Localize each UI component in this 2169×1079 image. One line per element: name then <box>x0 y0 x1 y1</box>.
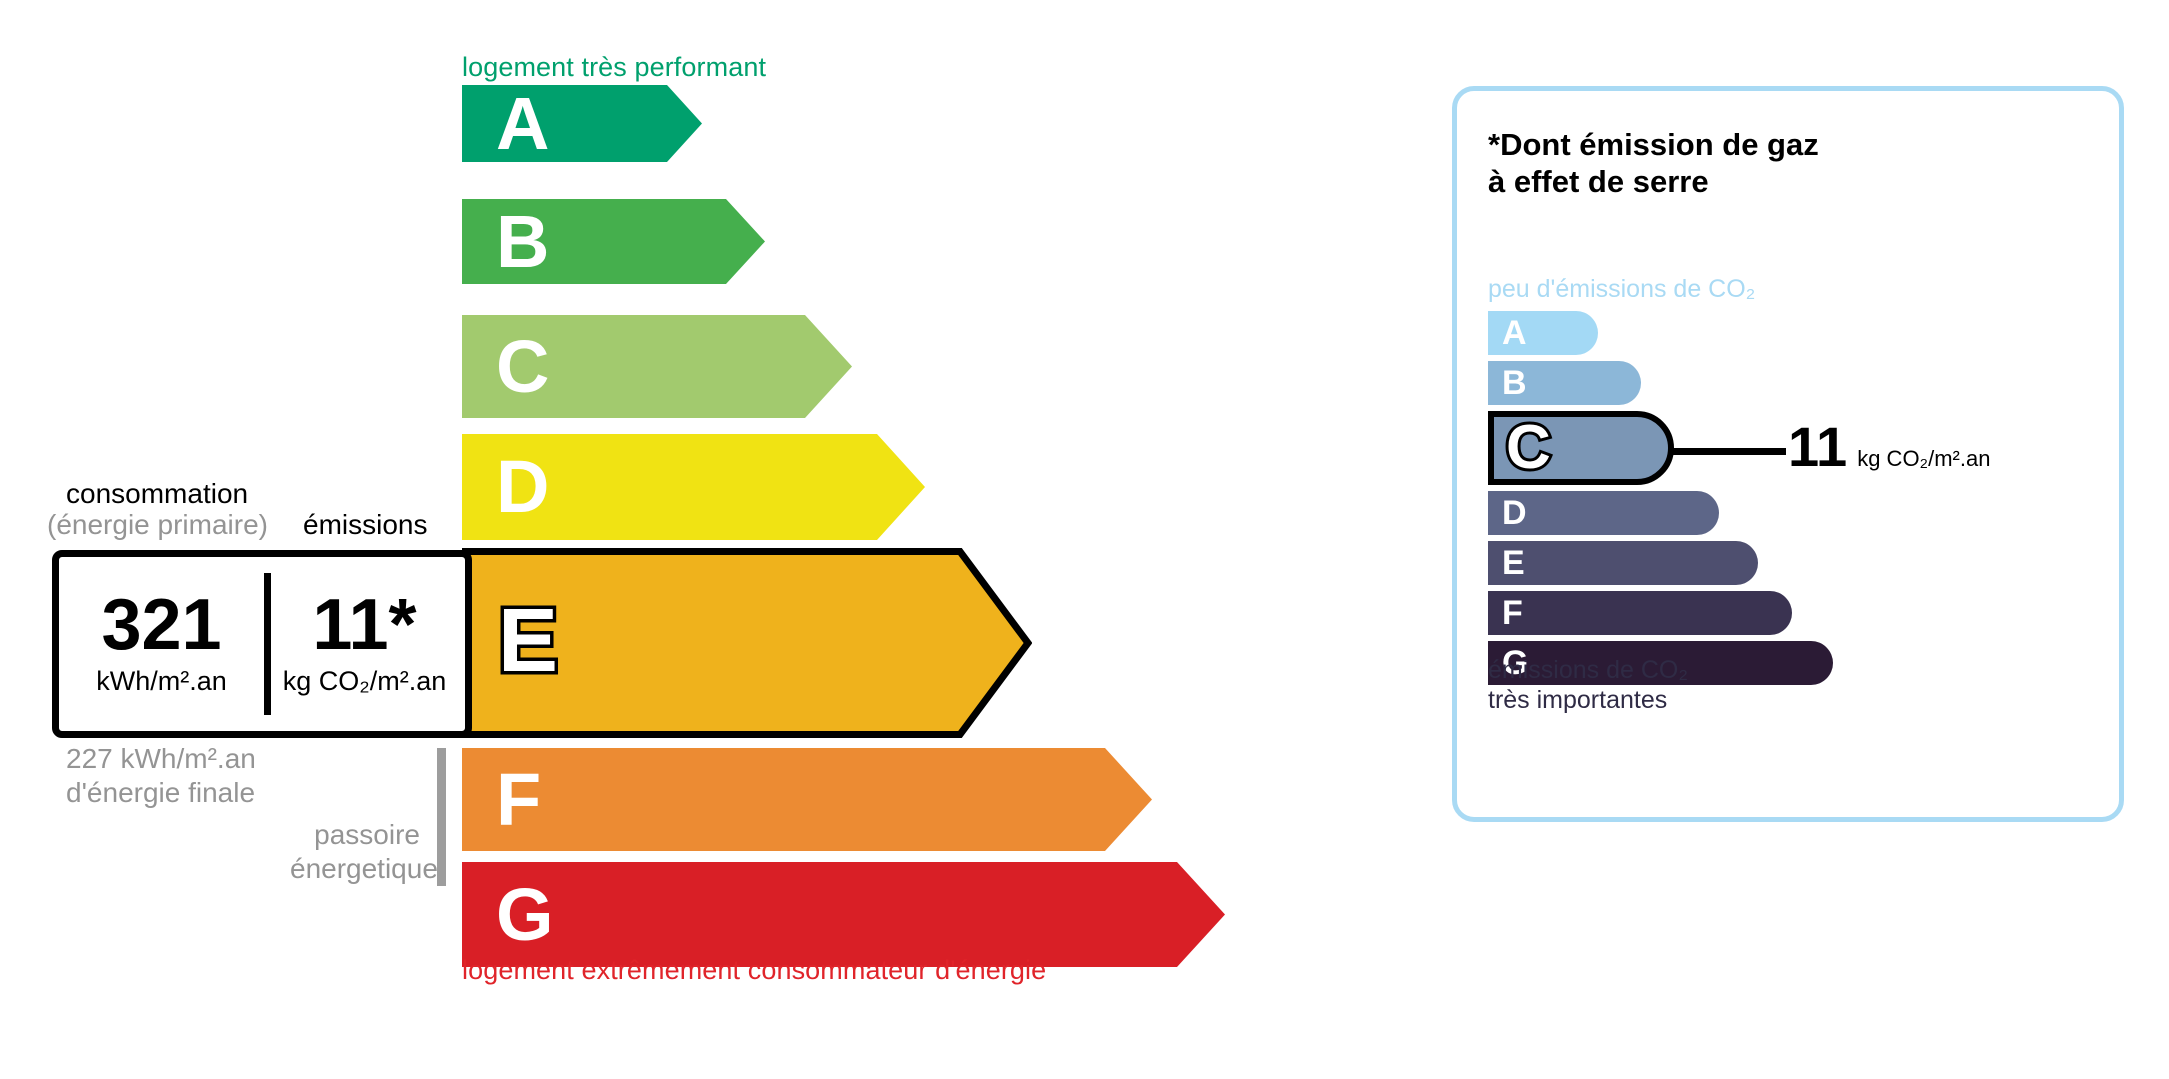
energy-row-g: G <box>462 862 1225 967</box>
energy-bar-a: A <box>462 85 702 162</box>
energy-row-e: E <box>462 548 1032 734</box>
emission-unit: kg CO₂/m².an <box>283 666 447 697</box>
energie-finale-line2: d'énergie finale <box>66 776 256 810</box>
ghg-letter-a: A <box>1502 316 1527 350</box>
ghg-row-e: E <box>1488 541 2108 585</box>
energy-row-b: B <box>462 199 765 284</box>
ghg-selected-value-group: 11 kg CO₂/m².an <box>1788 419 1990 475</box>
energy-bar-e: E <box>462 548 1032 734</box>
ghg-leader-line <box>1668 448 1786 455</box>
ghg-row-c: C 11 kg CO₂/m².an <box>1488 411 2108 485</box>
energy-letter-f: F <box>496 763 541 837</box>
passoire-line2: énergetique <box>290 852 420 886</box>
ghg-title-line1: *Dont émission de gaz <box>1488 127 1819 164</box>
energie-finale-line1: 227 kWh/m².an <box>66 742 256 776</box>
emission-value-cell: 11* kg CO₂/m².an <box>264 557 465 731</box>
energy-row-f: F <box>462 748 1152 851</box>
dpe-diagram: logement très performant A B <box>0 0 2169 1079</box>
ghg-row-f: F <box>1488 591 2108 635</box>
consumption-value: 321 <box>101 591 221 659</box>
passoire-line1: passoire <box>290 818 420 852</box>
ghg-letter-f: F <box>1502 596 1523 630</box>
ghg-letter-e: E <box>1502 546 1525 580</box>
emission-value: 11* <box>312 591 416 659</box>
passoire-bracket-line <box>437 748 446 886</box>
label-energie-finale: 227 kWh/m².an d'énergie finale <box>66 742 256 809</box>
consumption-unit: kWh/m².an <box>96 666 227 697</box>
ghg-bottom-caption: émissions de CO₂ très importantes <box>1488 655 1688 715</box>
energy-bar-d: D <box>462 434 925 540</box>
ghg-selected-value: 11 <box>1788 419 1847 475</box>
ghg-row-b: B <box>1488 361 2108 405</box>
ghg-row-a: A <box>1488 311 2108 355</box>
energy-bar-c: C <box>462 315 852 418</box>
energy-letter-a: A <box>496 87 549 161</box>
ghg-panel: *Dont émission de gaz à effet de serre p… <box>1452 86 2124 822</box>
label-emissions: émissions <box>303 509 427 541</box>
ghg-letter-b: B <box>1502 366 1527 400</box>
label-energie-primaire: (énergie primaire) <box>47 509 268 541</box>
ghg-bottom-line2: très importantes <box>1488 685 1688 715</box>
label-passoire-energetique: passoire énergetique <box>290 818 420 885</box>
ghg-selected-unit: kg CO₂/m².an <box>1857 446 1990 472</box>
ghg-top-caption: peu d'émissions de CO₂ <box>1488 275 1755 304</box>
energy-scale-panel: logement très performant A B <box>0 0 1400 1079</box>
energy-bottom-caption: logement extrêmement consommateur d'éner… <box>462 955 1046 986</box>
energy-row-c: C <box>462 315 852 418</box>
consumption-value-cell: 321 kWh/m².an <box>59 557 264 731</box>
energy-letter-g: G <box>496 878 554 952</box>
energy-bar-b: B <box>462 199 765 284</box>
energy-row-a: A <box>462 85 702 162</box>
ghg-letter-d: D <box>1502 496 1527 530</box>
label-consommation: consommation <box>66 478 248 510</box>
energy-row-d: D <box>462 434 925 540</box>
energy-letter-e: E <box>498 596 558 686</box>
energy-letter-d: D <box>496 450 549 524</box>
value-box: 321 kWh/m².an 11* kg CO₂/m².an <box>52 550 472 738</box>
ghg-letter-c: C <box>1506 417 1551 479</box>
ghg-bar-list: A B C 11 kg CO₂/m².an D <box>1488 311 2108 691</box>
ghg-row-d: D <box>1488 491 2108 535</box>
energy-letter-b: B <box>496 205 549 279</box>
ghg-title-line2: à effet de serre <box>1488 164 1819 201</box>
ghg-bottom-line1: émissions de CO₂ <box>1488 655 1688 685</box>
energy-bar-g: G <box>462 862 1225 967</box>
energy-letter-c: C <box>496 330 549 404</box>
ghg-panel-title: *Dont émission de gaz à effet de serre <box>1488 127 1819 200</box>
energy-bar-f: F <box>462 748 1152 851</box>
